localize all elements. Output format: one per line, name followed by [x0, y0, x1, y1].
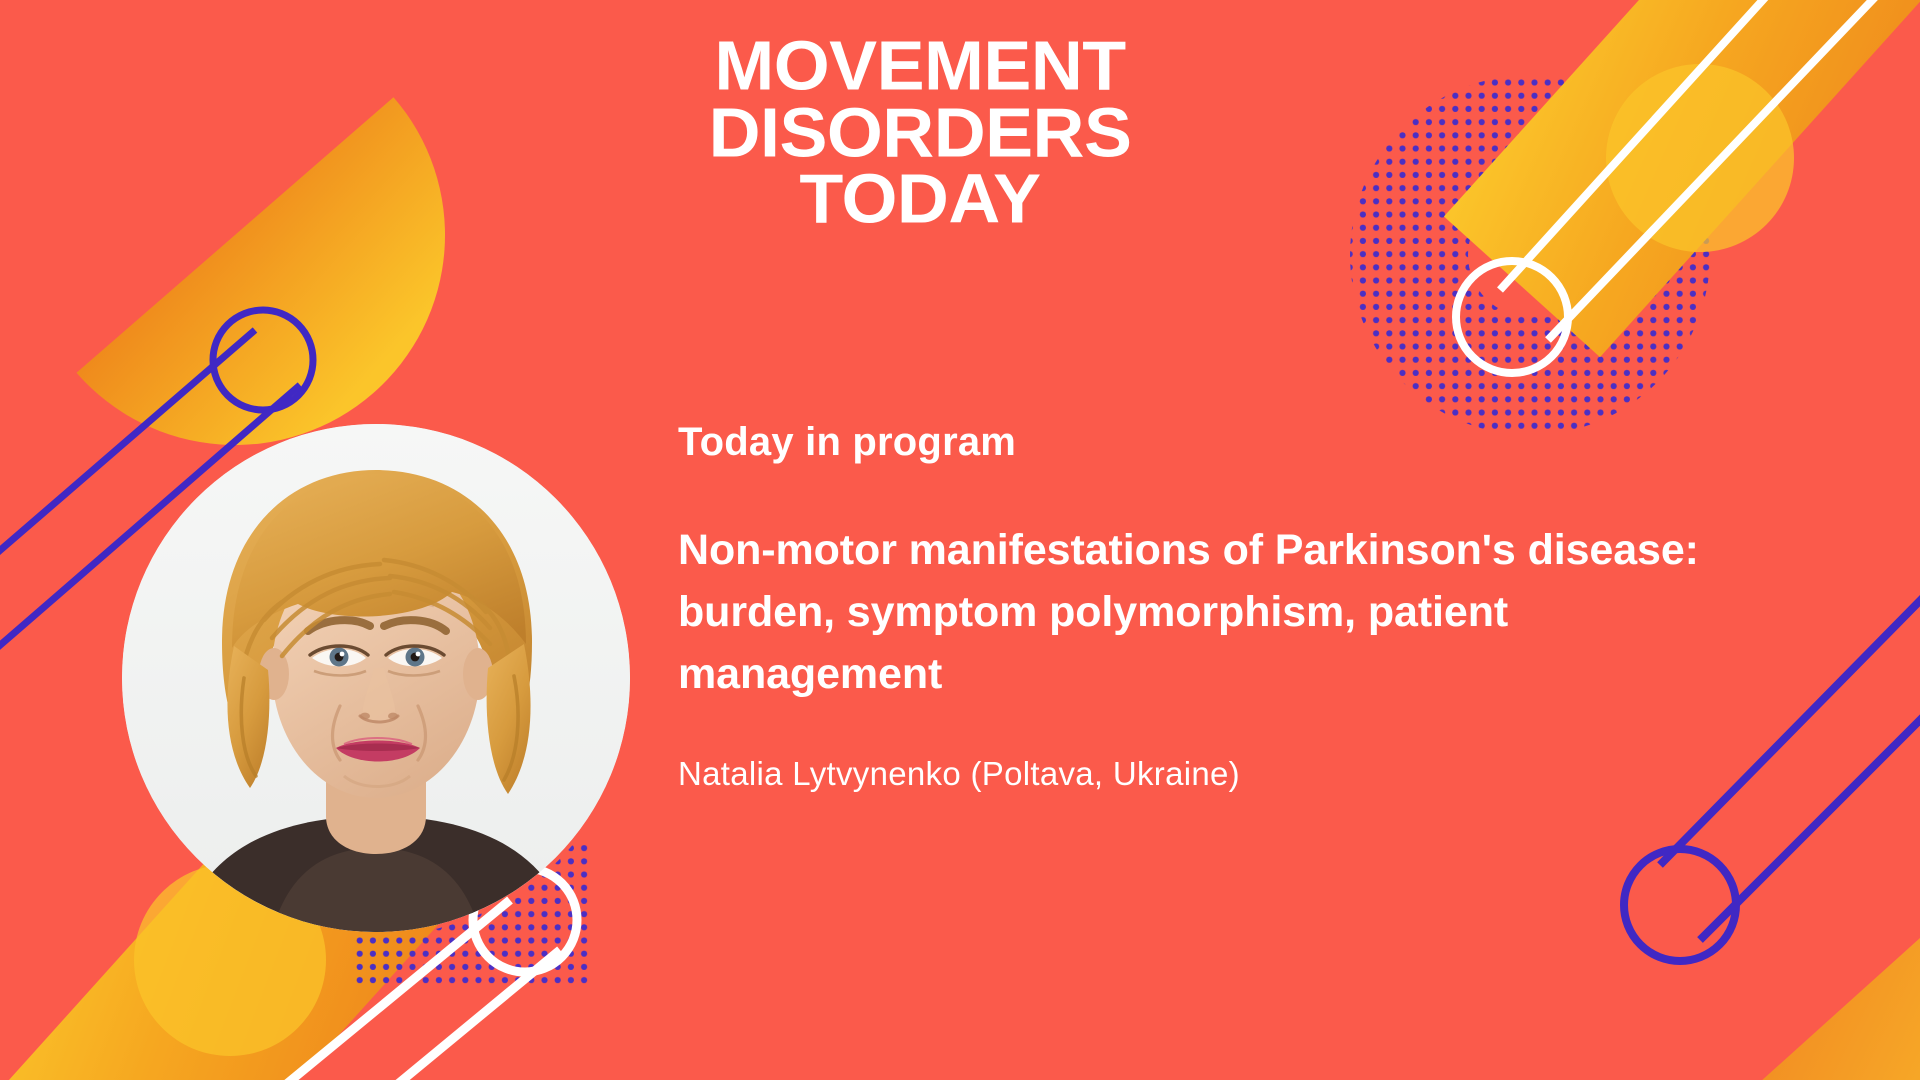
half-disc-bottom-right [1677, 863, 1920, 1080]
talk-title: Non-motor manifestations of Parkinson's … [678, 520, 1753, 706]
portrait-illustration [122, 424, 630, 932]
yellow-circle-top-right [1606, 64, 1794, 252]
content-block: Today in program Non-motor manifestation… [678, 418, 1753, 796]
orange-band-top-right [1444, 0, 1920, 430]
logo-line-3: TODAY [528, 163, 1313, 234]
dotted-disc-top-right [1330, 55, 1740, 465]
logo-line-2: DISORDERS [528, 97, 1313, 168]
brand-logo: MOVEMENT DISORDERS TODAY [560, 30, 1280, 230]
white-tube-top-right [1456, 0, 1920, 373]
slide-root: MOVEMENT DISORDERS TODAY Today in progra… [0, 0, 1920, 1080]
speaker-portrait [122, 424, 630, 932]
white-circle-top-right [1456, 261, 1568, 373]
section-eyebrow: Today in program [678, 418, 1753, 466]
logo-line-1: MOVEMENT [528, 30, 1313, 101]
speaker-name: Natalia Lytvynenko (Poltava, Ukraine) [678, 753, 1753, 796]
